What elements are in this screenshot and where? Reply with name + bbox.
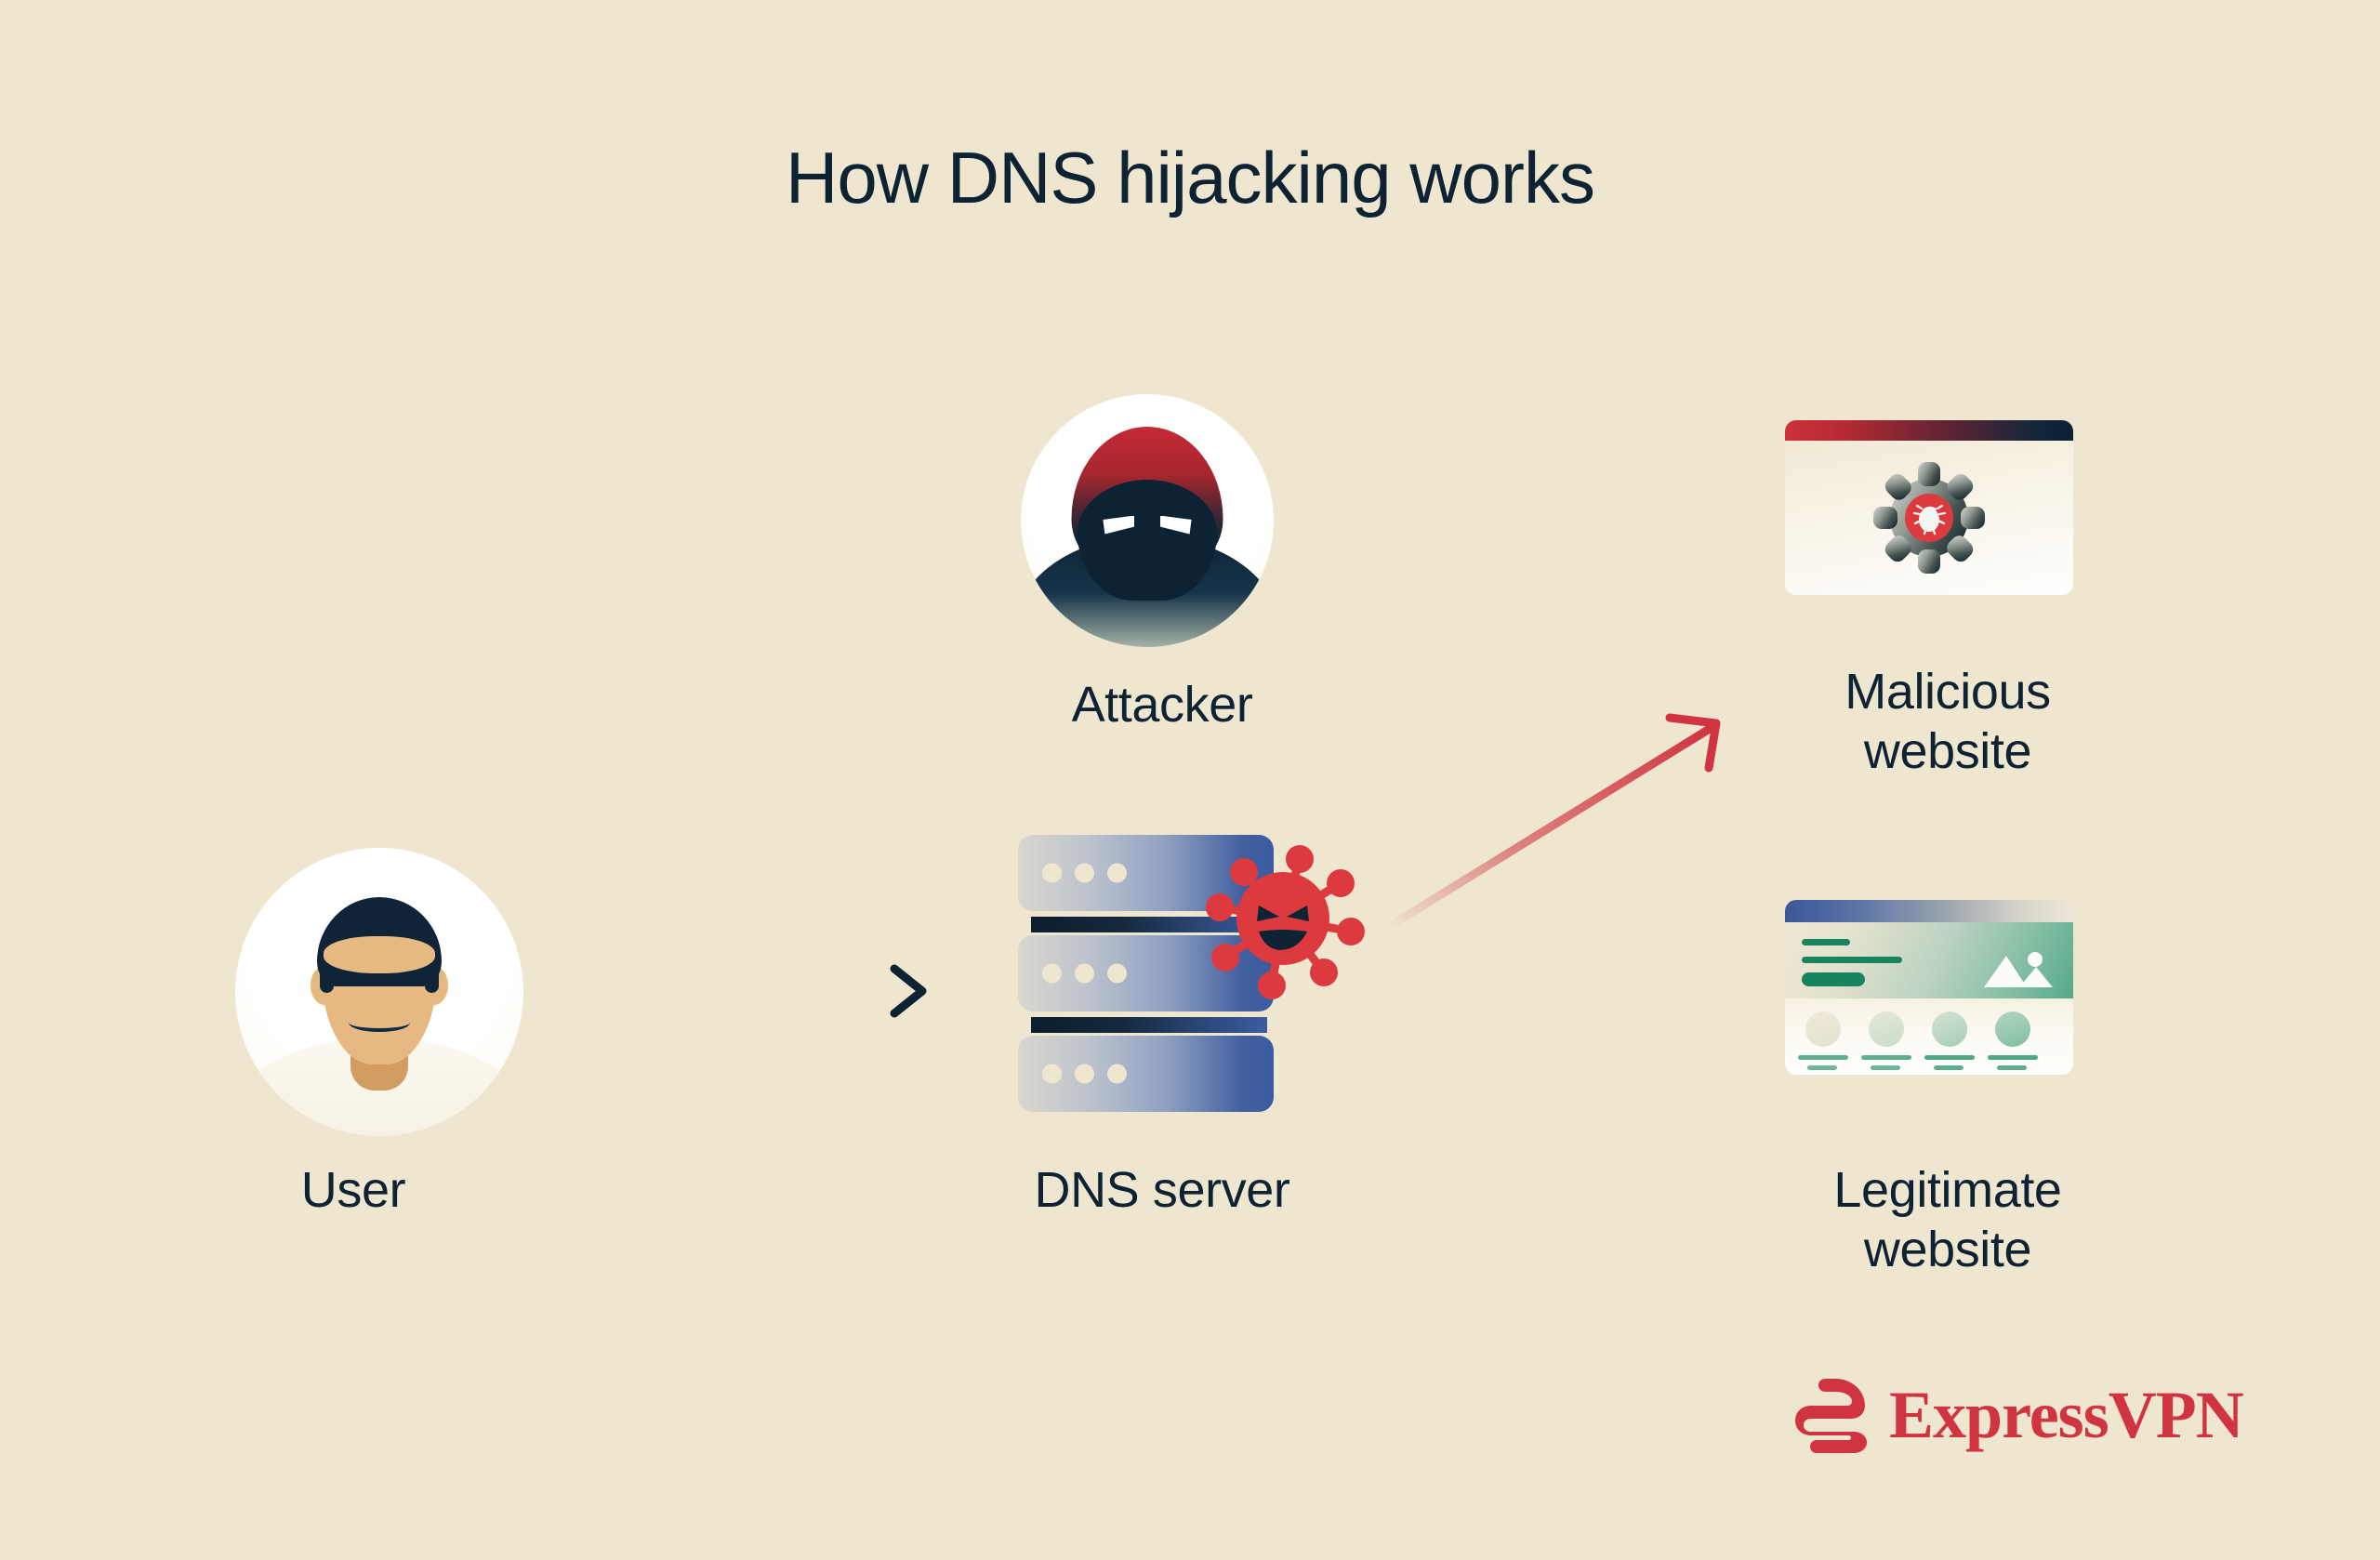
malicious-label-line1: Malicious	[1739, 663, 2157, 722]
legit-card-hero	[1785, 922, 2073, 998]
expressvpn-logo: ExpressVPN	[1794, 1368, 2194, 1461]
tile-line	[1997, 1065, 2027, 1070]
legitimate-website-label: Legitimate website	[1739, 1161, 2157, 1279]
server-led	[1107, 964, 1127, 984]
tile-line	[1807, 1065, 1837, 1070]
tile-avatar	[1869, 1011, 1904, 1047]
attacker-face-shadow	[1078, 480, 1217, 601]
server-led	[1075, 1064, 1094, 1084]
gear-bug-icon	[1785, 420, 2073, 595]
server-led-dots	[1042, 964, 1127, 984]
server-led	[1107, 864, 1127, 883]
server-led-dots	[1042, 1064, 1127, 1084]
tile-line	[1871, 1065, 1900, 1070]
tile-avatar	[1932, 1011, 1967, 1047]
server-led	[1042, 864, 1062, 883]
server-separator	[1031, 1017, 1267, 1033]
user-avatar-icon	[235, 848, 523, 1136]
expressvpn-e-icon	[1794, 1375, 1874, 1455]
malicious-label-line2: website	[1739, 722, 2157, 782]
expressvpn-wordmark: ExpressVPN	[1889, 1382, 2243, 1448]
server-unit	[1018, 1036, 1274, 1112]
hero-text-line	[1802, 939, 1850, 945]
server-led	[1042, 964, 1062, 984]
server-led-dots	[1042, 864, 1127, 883]
tile-line	[1924, 1055, 1975, 1060]
server-led	[1075, 964, 1094, 984]
hacker-hood-icon	[1021, 394, 1274, 647]
malicious-website-label: Malicious website	[1739, 663, 2157, 781]
dashed-line-dns-to-legitimate	[1339, 967, 1757, 1013]
server-led	[1107, 1064, 1127, 1084]
legit-card-tiles	[1785, 998, 2073, 1075]
malicious-card-topbar	[1785, 420, 2073, 441]
avatar-hair	[317, 897, 442, 986]
arrow-dns-to-malicious	[1367, 688, 1766, 948]
webpage-mockup-icon	[1785, 900, 2073, 1075]
hero-cta-button	[1802, 972, 1865, 986]
gear-icon	[1871, 460, 1987, 575]
user-label: User	[167, 1161, 539, 1221]
tile-line	[1798, 1055, 1848, 1060]
dns-server-label: DNS server	[883, 1161, 1441, 1221]
hero-text-line	[1802, 957, 1902, 963]
image-placeholder-icon	[1982, 948, 2055, 989]
legit-card-topbar	[1785, 900, 2073, 922]
legit-label-line1: Legitimate	[1739, 1161, 2157, 1221]
legit-label-line2: website	[1739, 1221, 2157, 1280]
arrow-user-to-dns	[614, 950, 948, 1030]
malicious-card-body	[1785, 441, 2073, 595]
tile-line	[1988, 1055, 2038, 1060]
server-led	[1042, 1064, 1062, 1084]
page-title: How DNS hijacking works	[0, 141, 2380, 214]
avatar-chin	[349, 1013, 410, 1032]
tile-line	[1861, 1055, 1911, 1060]
server-led	[1075, 864, 1094, 883]
infographic-canvas: How DNS hijacking works User Attacker	[0, 0, 2380, 1560]
tile-avatar	[1805, 1011, 1841, 1047]
tile-line	[1934, 1065, 1963, 1070]
attacker-label: Attacker	[883, 676, 1441, 735]
tile-avatar	[1995, 1011, 2030, 1047]
